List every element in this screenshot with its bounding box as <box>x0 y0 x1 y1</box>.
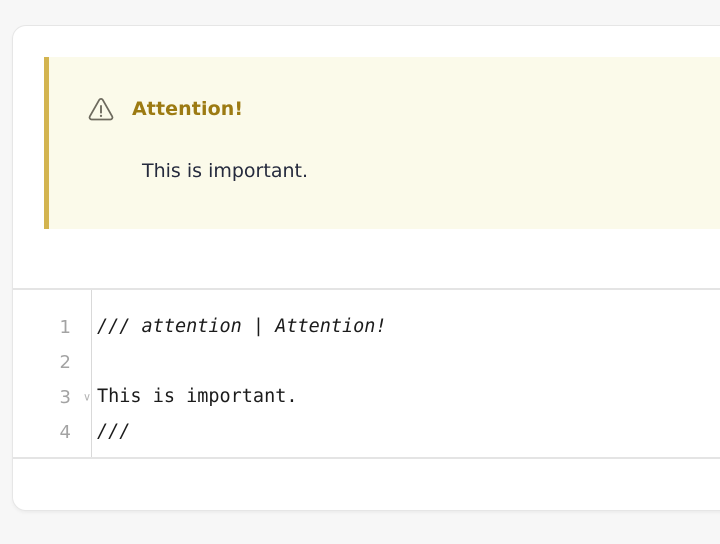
line-number: 4 <box>60 424 71 442</box>
line-gutter: 2 <box>13 345 79 380</box>
code-editor[interactable]: 1/// attention | Attention!23∨This is im… <box>13 290 720 457</box>
code-line-row[interactable]: 4/// <box>13 415 720 450</box>
code-line-text[interactable]: /// <box>79 423 720 442</box>
admonition-title: Attention! <box>132 98 243 120</box>
code-line-row[interactable]: 2 <box>13 345 720 380</box>
card-footer <box>13 459 720 510</box>
line-number: 1 <box>60 319 71 337</box>
rendered-preview-pane: Attention! This is important. <box>13 26 720 288</box>
warning-triangle-icon <box>87 95 115 123</box>
code-line-row[interactable]: 3∨This is important. <box>13 380 720 415</box>
line-number: 2 <box>60 354 71 372</box>
admonition-body-text: This is important. <box>142 160 308 182</box>
code-lines: 1/// attention | Attention!23∨This is im… <box>13 310 720 450</box>
preview-card: Attention! This is important. 1/// atten… <box>12 25 720 511</box>
line-number: 3 <box>60 389 71 407</box>
attention-admonition: Attention! This is important. <box>44 57 720 229</box>
page-root: Attention! This is important. 1/// atten… <box>0 0 720 544</box>
code-line-text[interactable]: /// attention | Attention! <box>79 318 720 337</box>
chevron-down-icon[interactable]: ∨ <box>81 392 93 404</box>
admonition-title-row: Attention! <box>87 95 243 123</box>
code-line-text[interactable]: This is important. <box>79 388 720 407</box>
line-gutter: 1 <box>13 310 79 345</box>
line-gutter: 4 <box>13 415 79 450</box>
line-gutter: 3∨ <box>13 380 79 415</box>
code-line-row[interactable]: 1/// attention | Attention! <box>13 310 720 345</box>
